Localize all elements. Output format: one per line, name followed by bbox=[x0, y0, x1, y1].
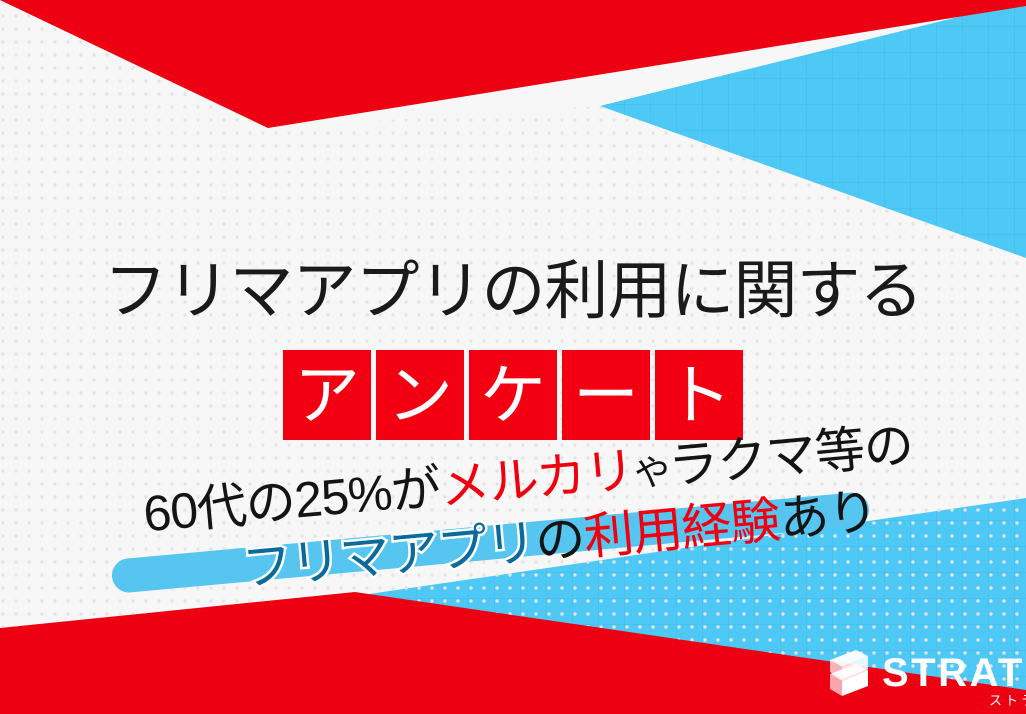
boxed-title-cell-1: ア bbox=[283, 350, 371, 440]
headline-line-1: フリマアプリの利用に関する bbox=[0, 258, 1026, 325]
subtitle-l2-seg2: の bbox=[533, 510, 587, 570]
strate-word: STRATE bbox=[882, 653, 1026, 693]
subtitle-l1-seg3: や bbox=[632, 451, 671, 495]
boxed-title-cell-2: ン bbox=[376, 350, 464, 440]
strate-logo: STRATE ストラテ bbox=[826, 642, 1016, 704]
strate-wordmark: STRATE ストラテ bbox=[882, 653, 1026, 693]
strate-kana: ストラテ bbox=[989, 694, 1026, 707]
subtitle-l2-seg4: あり bbox=[777, 483, 880, 548]
subtitle-l1-seg2-brand-mercari: メルカリ bbox=[438, 442, 637, 515]
boxed-title-cell-3: ケ bbox=[469, 350, 557, 440]
boxed-title-cell-5: ト bbox=[655, 350, 743, 440]
headline-text: フリマアプリの利用に関する bbox=[104, 255, 923, 327]
boxed-title-cell-4: ー bbox=[562, 350, 650, 440]
strate-s-mark-icon bbox=[826, 646, 872, 700]
infographic-banner: フリマアプリの利用に関する ア ン ケ ー ト 60代の25%がメルカリやラクマ… bbox=[0, 0, 1026, 714]
